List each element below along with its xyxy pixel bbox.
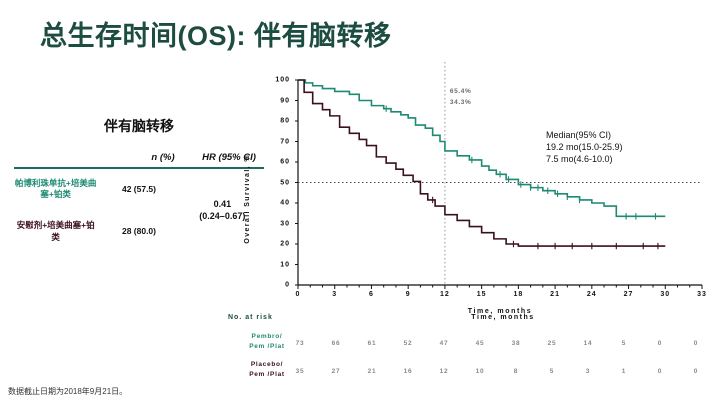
- row-arm-pembro: 帕博利珠单抗+培美曲塞+铂类: [14, 169, 97, 210]
- y-tick-0: 0: [264, 282, 290, 289]
- risk-value: 73: [296, 340, 305, 347]
- risk-label-line1: Placebo/: [234, 360, 300, 370]
- risk-values-pembro: 736661524745382514500: [300, 340, 696, 360]
- table-body: 帕博利珠单抗+培美曲塞+铂类 42 (57.5) 0.41 (0.24–0.67…: [14, 169, 264, 252]
- y-tick-80: 80: [264, 118, 290, 125]
- table-header-row: n (%) HR (95% CI): [14, 152, 264, 167]
- risk-value: 1: [622, 368, 626, 375]
- risk-value: 5: [622, 340, 626, 347]
- risk-value: 10: [476, 368, 485, 375]
- risk-row-label-placebo: Placebo/ Pem /Plat: [234, 360, 300, 380]
- risk-values-placebo: 352721161210853100: [300, 368, 696, 388]
- y-tick-40: 40: [264, 200, 290, 207]
- x-tick-30: 30: [660, 291, 670, 298]
- hr-value: 0.41: [214, 199, 232, 209]
- plot-area: [298, 80, 702, 292]
- risk-value: 0: [658, 340, 662, 347]
- x-tick-33: 33: [697, 291, 707, 298]
- risk-title: No. at risk: [228, 314, 273, 321]
- x-tick-15: 15: [477, 291, 487, 298]
- risk-value: 12: [440, 368, 449, 375]
- median-annotation: Median(95% CI) 19.2 mo(15.0-25.9) 7.5 mo…: [546, 130, 623, 166]
- y-axis-ticks: 0102030405060708090100: [260, 80, 290, 285]
- y-tick-60: 60: [264, 159, 290, 166]
- y-tick-10: 10: [264, 261, 290, 268]
- risk-value: 0: [694, 368, 698, 375]
- risk-value: 8: [514, 368, 518, 375]
- x-axis-ticks: 03691215182124273033: [298, 291, 702, 305]
- risk-value: 47: [440, 340, 449, 347]
- km-chart: Overall Survival, % 01020304050607080901…: [246, 80, 712, 320]
- risk-value: 25: [548, 340, 557, 347]
- x-tick-24: 24: [587, 291, 597, 298]
- y-tick-30: 30: [264, 220, 290, 227]
- risk-value: 35: [296, 368, 305, 375]
- x-tick-6: 6: [369, 291, 374, 298]
- risk-value: 66: [332, 340, 341, 347]
- page-title: 总生存时间(OS): 伴有脑转移: [40, 14, 392, 53]
- risk-value: 61: [368, 340, 377, 347]
- y-axis-label: Overall Survival, %: [244, 154, 251, 244]
- risk-label-line1: Pembro/: [234, 332, 300, 342]
- x-tick-27: 27: [624, 291, 634, 298]
- column-header-arm: [14, 152, 132, 167]
- risk-value: 38: [512, 340, 521, 347]
- median-placebo: 7.5 mo(4.6-10.0): [546, 154, 623, 166]
- x-tick-12: 12: [440, 291, 450, 298]
- footer-note: 数据截止日期为2018年9月21日。: [8, 386, 127, 397]
- x-tick-0: 0: [296, 291, 301, 298]
- row-arm-placebo: 安慰剂+培美曲塞+铂类: [14, 210, 97, 252]
- risk-value: 45: [476, 340, 485, 347]
- table: n (%) HR (95% CI): [14, 152, 264, 167]
- annotation-12mo-placebo: 34.3%: [450, 99, 471, 106]
- numbers-at-risk: No. at risk Time, months Pembro/ Pem /Pl…: [228, 314, 698, 388]
- risk-value: 52: [404, 340, 413, 347]
- y-tick-50: 50: [264, 179, 290, 186]
- hr-ci: (0.24–0.67): [199, 211, 245, 221]
- row-n-placebo: 28 (80.0): [97, 210, 180, 252]
- x-tick-9: 9: [406, 291, 411, 298]
- x-tick-21: 21: [550, 291, 560, 298]
- y-tick-20: 20: [264, 241, 290, 248]
- table-row: 帕博利珠单抗+培美曲塞+铂类 42 (57.5) 0.41 (0.24–0.67…: [14, 169, 264, 210]
- column-header-n: n (%): [132, 152, 194, 167]
- risk-row-label-pembro: Pembro/ Pem /Plat: [234, 332, 300, 352]
- table-heading: 伴有脑转移: [14, 116, 264, 136]
- x-tick-18: 18: [513, 291, 523, 298]
- median-header: Median(95% CI): [546, 130, 623, 142]
- risk-label-line2: Pem /Plat: [234, 370, 300, 380]
- risk-value: 27: [332, 368, 341, 375]
- risk-value: 0: [658, 368, 662, 375]
- x-tick-3: 3: [332, 291, 337, 298]
- y-tick-90: 90: [264, 97, 290, 104]
- median-pembro: 19.2 mo(15.0-25.9): [546, 142, 623, 154]
- risk-value: 14: [584, 340, 593, 347]
- risk-value: 3: [586, 368, 590, 375]
- risk-time-label: Time, months: [378, 314, 628, 321]
- y-tick-70: 70: [264, 138, 290, 145]
- subgroup-table: 伴有脑转移 n (%) HR (95% CI) 帕博利珠单抗+培美曲塞+铂类 4…: [14, 116, 264, 252]
- risk-value: 21: [368, 368, 377, 375]
- risk-value: 0: [694, 340, 698, 347]
- risk-label-line2: Pem /Plat: [234, 342, 300, 352]
- slide: 总生存时间(OS): 伴有脑转移 伴有脑转移 n (%) HR (95% CI)…: [0, 0, 720, 405]
- risk-value: 5: [550, 368, 554, 375]
- row-n-pembro: 42 (57.5): [97, 169, 180, 210]
- annotation-12mo-pembro: 65.4%: [450, 88, 471, 95]
- risk-value: 16: [404, 368, 413, 375]
- y-tick-100: 100: [264, 77, 290, 84]
